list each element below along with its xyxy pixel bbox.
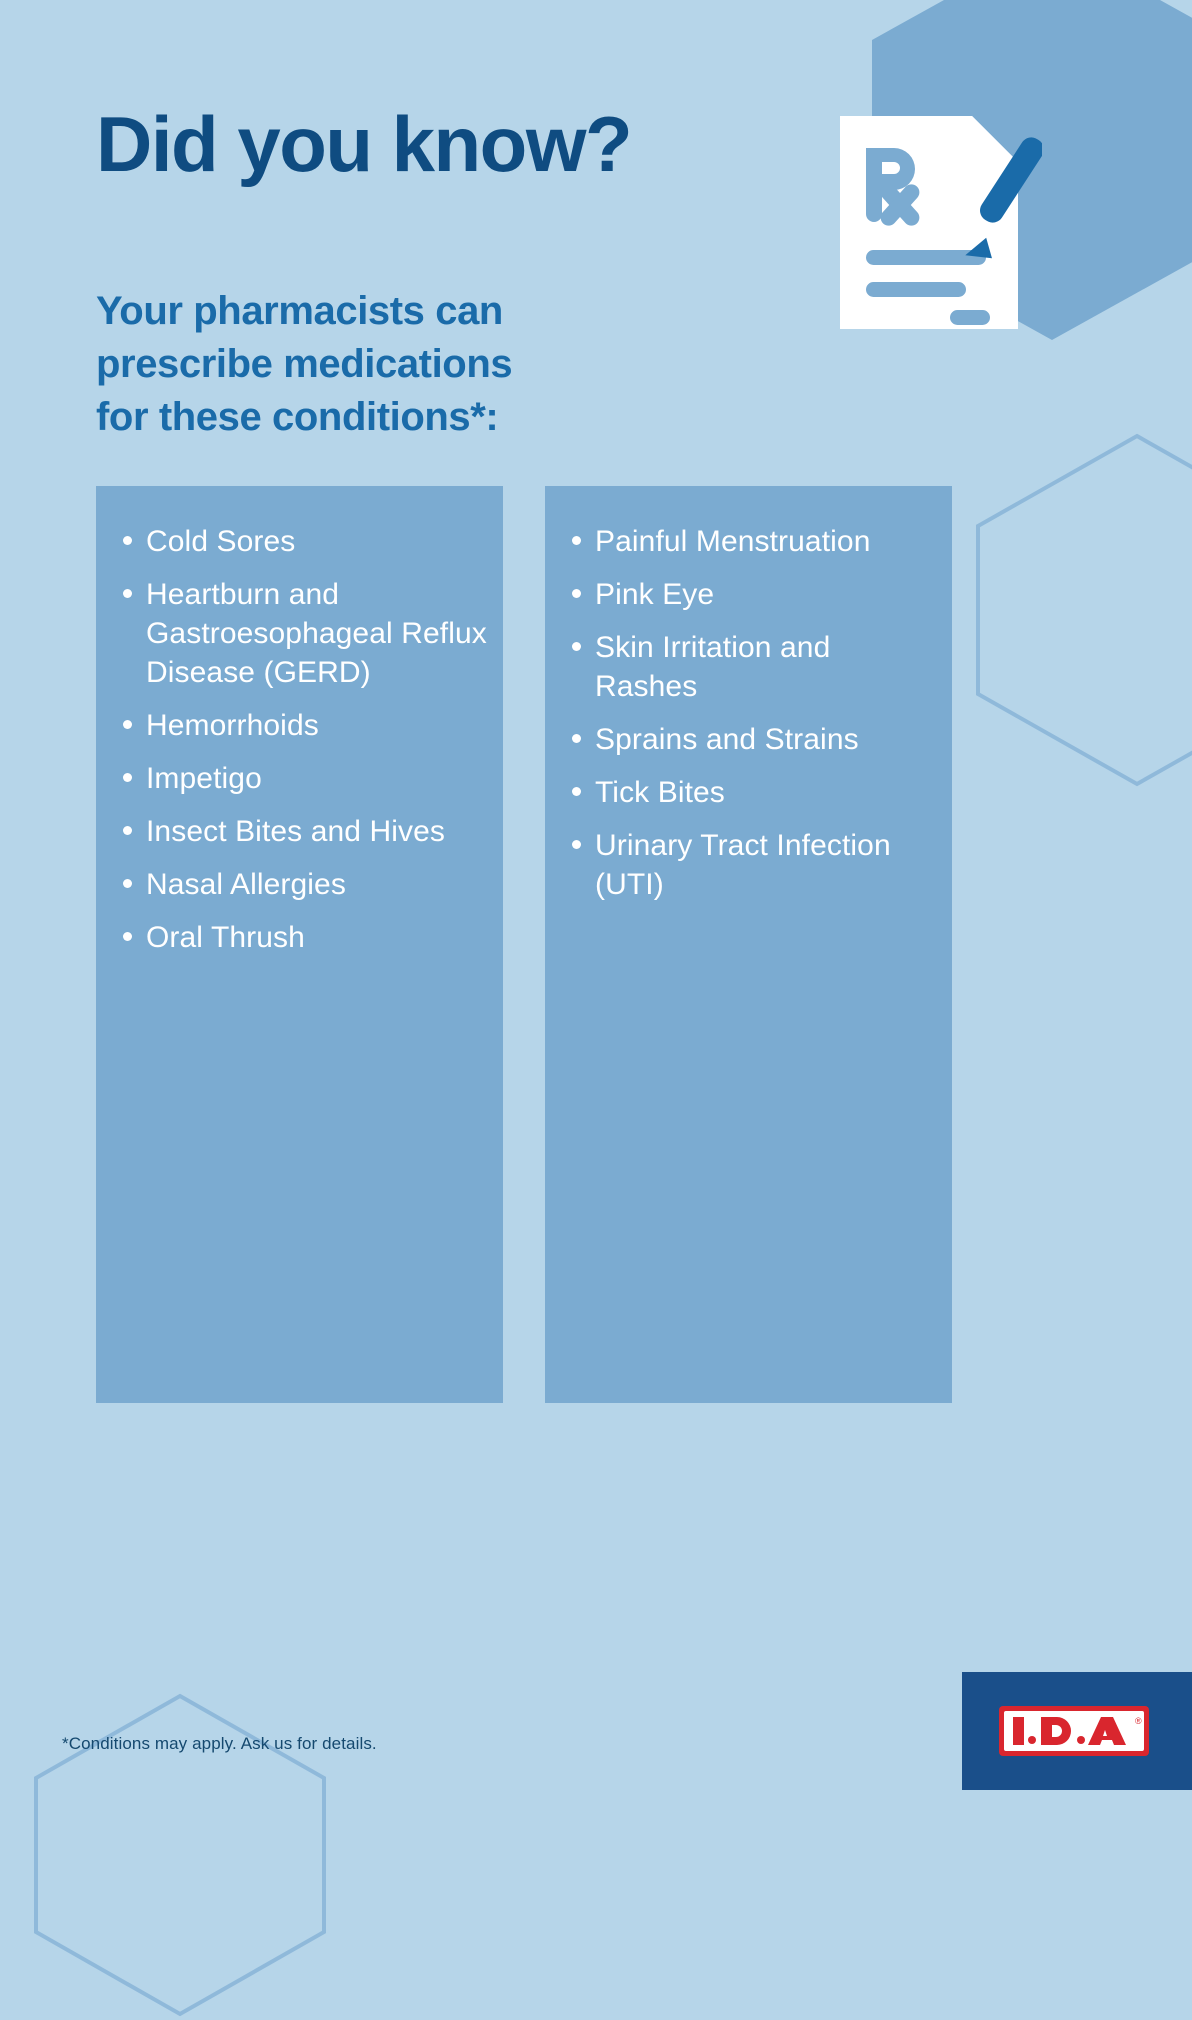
- list-item: Sprains and Strains: [567, 720, 938, 759]
- hexagon-outline-right-icon: [972, 430, 1192, 790]
- list-item: Tick Bites: [567, 773, 938, 812]
- conditions-panel-left: Cold Sores Heartburn and Gastroesophagea…: [96, 486, 503, 1403]
- registered-mark: ®: [1135, 1716, 1142, 1726]
- poster-canvas: Did you know? Your pharmacists can presc…: [0, 0, 1192, 1790]
- list-item: Impetigo: [118, 759, 489, 798]
- conditions-list-left: Cold Sores Heartburn and Gastroesophagea…: [96, 486, 503, 957]
- conditions-list-right: Painful Menstruation Pink Eye Skin Irrit…: [545, 486, 952, 904]
- subtitle-line-3: for these conditions*:: [96, 391, 512, 444]
- page-subtitle: Your pharmacists can prescribe medicatio…: [96, 285, 512, 445]
- conditions-panel-right: Painful Menstruation Pink Eye Skin Irrit…: [545, 486, 952, 1403]
- list-item: Urinary Tract Infection (UTI): [567, 826, 938, 904]
- ida-logo-icon: ®: [997, 1700, 1157, 1762]
- list-item: Hemorrhoids: [118, 706, 489, 745]
- list-item: Oral Thrush: [118, 918, 489, 957]
- list-item: Heartburn and Gastroesophageal Reflux Di…: [118, 575, 489, 692]
- list-item: Cold Sores: [118, 522, 489, 561]
- subtitle-line-1: Your pharmacists can: [96, 285, 512, 338]
- list-item: Skin Irritation and Rashes: [567, 628, 938, 706]
- list-item: Insect Bites and Hives: [118, 812, 489, 851]
- rx-prescription-pad-icon: [832, 110, 1042, 335]
- ida-logo: ®: [962, 1672, 1192, 1790]
- list-item: Nasal Allergies: [118, 865, 489, 904]
- list-item: Pink Eye: [567, 575, 938, 614]
- subtitle-line-2: prescribe medications: [96, 338, 512, 391]
- page-title: Did you know?: [96, 105, 631, 183]
- disclaimer-text: *Conditions may apply. Ask us for detail…: [62, 1734, 377, 1754]
- list-item: Painful Menstruation: [567, 522, 938, 561]
